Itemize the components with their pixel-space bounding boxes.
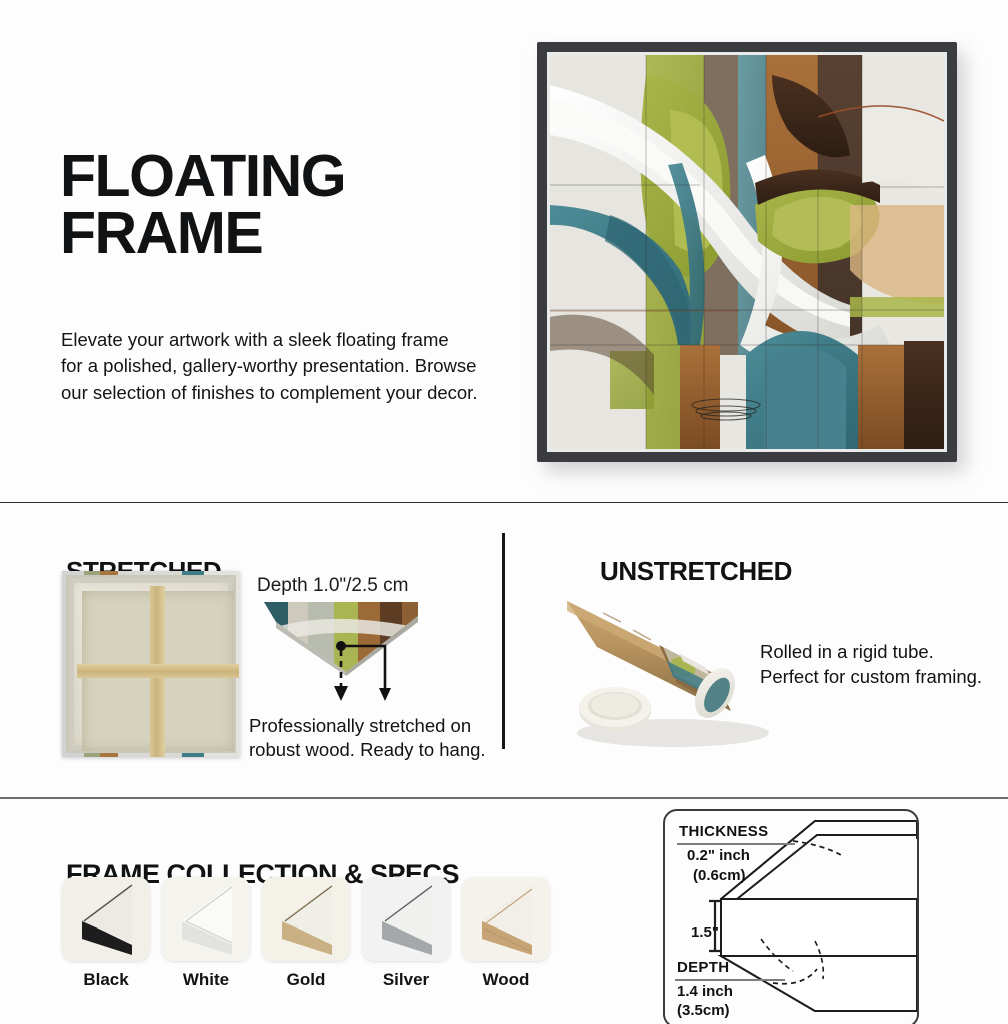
frame-swatch-white[interactable]: White	[162, 877, 250, 990]
abstract-painting-canvas	[550, 55, 944, 449]
frame-swatch-wood[interactable]: Wood	[462, 877, 550, 990]
swatch-tile-black[interactable]	[62, 877, 150, 961]
stretcher-bar-horizontal	[77, 664, 239, 678]
frame-corner-icon	[462, 877, 550, 961]
swatch-label-wood: Wood	[462, 970, 550, 990]
stretched-caption: Professionally stretched on robust wood.…	[249, 714, 501, 762]
unstretched-caption: Rolled in a rigid tube. Perfect for cust…	[760, 640, 1008, 690]
spec-thickness-inches: 0.2" inch	[687, 847, 750, 864]
swatch-tile-gold[interactable]	[262, 877, 350, 961]
spec-thickness-cm: (0.6cm)	[693, 867, 746, 884]
section-divider-vertical	[502, 533, 505, 749]
mailing-tube-svg	[563, 583, 783, 753]
abstract-art-svg	[550, 55, 944, 449]
depth-annotation-arrows	[255, 598, 505, 710]
frame-swatch-gold[interactable]: Gold	[262, 877, 350, 990]
spec-depth-inches: 1.4 inch	[677, 983, 733, 1000]
frame-spec-diagram: THICKNESS 0.2" inch (0.6cm) 1.5" DEPTH 1…	[663, 809, 919, 1024]
infographic-page: FLOATING FRAME Elevate your artwork with…	[0, 0, 1008, 1024]
frame-corner-icon	[362, 877, 450, 961]
swatch-tile-wood[interactable]	[462, 877, 550, 961]
unstretched-heading: UNSTRETCHED	[600, 556, 792, 587]
frame-swatch-black[interactable]: Black	[62, 877, 150, 990]
hero-description: Elevate your artwork with a sleek floati…	[61, 327, 531, 407]
swatch-tile-white[interactable]	[162, 877, 250, 961]
frame-corner-icon	[62, 877, 150, 961]
spec-thickness-title: THICKNESS	[679, 823, 768, 840]
swatch-label-white: White	[162, 970, 250, 990]
hero-section: FLOATING FRAME Elevate your artwork with…	[0, 0, 1008, 503]
unstretched-tube-photo	[563, 583, 783, 753]
page-title: FLOATING FRAME	[60, 148, 490, 264]
swatch-tile-silver[interactable]	[362, 877, 450, 961]
frame-swatch-row: Black White	[62, 877, 550, 990]
framed-artwork	[537, 42, 957, 462]
frame-corner-icon	[262, 877, 350, 961]
swatch-label-silver: Silver	[362, 970, 450, 990]
frame-corner-icon	[162, 877, 250, 961]
floating-frame-border	[537, 42, 957, 462]
spec-depth-cm: (3.5cm)	[677, 1002, 730, 1019]
spec-depth-underline	[675, 979, 785, 981]
spec-width-value: 1.5"	[691, 924, 719, 941]
frame-inner-gap	[547, 52, 947, 452]
swatch-label-gold: Gold	[262, 970, 350, 990]
swatch-label-black: Black	[62, 970, 150, 990]
stretcher-frame	[69, 578, 233, 750]
spec-depth-title: DEPTH	[677, 959, 729, 976]
frame-swatch-silver[interactable]: Silver	[362, 877, 450, 990]
depth-label: Depth 1.0"/2.5 cm	[257, 575, 408, 597]
stretched-canvas-back-photo	[62, 571, 240, 757]
spec-thickness-underline	[677, 843, 795, 845]
